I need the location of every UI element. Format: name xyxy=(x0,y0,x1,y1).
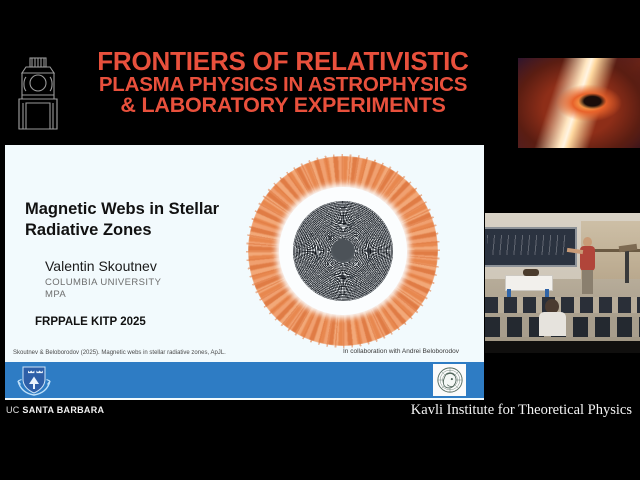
table-object xyxy=(523,269,539,276)
ucsb-name: SANTA BARBARA xyxy=(22,405,104,415)
conference-title: FRONTIERS OF RELATIVISTIC PLASMA PHYSICS… xyxy=(88,48,478,117)
podium-stand xyxy=(625,249,629,283)
slide-sponsor-bar xyxy=(5,362,484,398)
stellar-core-center xyxy=(331,239,355,263)
audience-member-body xyxy=(539,312,566,336)
presentation-screen: FRONTIERS OF RELATIVISTIC PLASMA PHYSICS… xyxy=(0,0,640,480)
slide-venue: FRPPALE KITP 2025 xyxy=(35,316,146,328)
conference-title-line2: PLASMA PHYSICS IN ASTROPHYSICS xyxy=(88,75,478,96)
black-hole-jet-image xyxy=(518,58,640,148)
columbia-university-logo xyxy=(13,364,63,396)
conference-title-line3: & LABORATORY EXPERIMENTS xyxy=(88,95,478,117)
webcam-bottom-shadow xyxy=(485,341,640,353)
slide-author: Valentin Skoutnev xyxy=(45,258,157,274)
ucsb-prefix: UC xyxy=(6,405,20,415)
max-planck-society-logo xyxy=(433,364,466,396)
conference-header: FRONTIERS OF RELATIVISTIC PLASMA PHYSICS… xyxy=(0,40,485,145)
speaker-legs xyxy=(582,270,593,294)
chair-row-back xyxy=(485,297,640,313)
page-footer: UC SANTA BARBARA Kavli Institute for The… xyxy=(0,400,640,480)
slide-citation: Skoutnev & Beloborodov (2025). Magnetic … xyxy=(13,350,226,356)
chalkboard-chalk-marks xyxy=(487,235,567,255)
stellar-interior-diagram xyxy=(243,151,453,351)
slide-affiliation-secondary: MPA xyxy=(45,289,66,300)
ucsb-wordmark: UC SANTA BARBARA xyxy=(6,405,104,415)
minerva-emblem-icon xyxy=(436,366,464,394)
speaker-webcam-panel[interactable] xyxy=(485,213,640,353)
kitp-institute-name: Kavli Institute for Theoretical Physics xyxy=(411,402,632,419)
conference-title-line1: FRONTIERS OF RELATIVISTIC xyxy=(88,48,478,75)
slide-affiliation-primary: COLUMBIA UNIVERSITY xyxy=(45,277,161,288)
kitp-building-icon xyxy=(8,53,68,133)
presentation-slide: Magnetic Webs in Stellar Radiative Zones… xyxy=(5,145,484,400)
astrophysics-visualization-panel[interactable] xyxy=(485,48,640,158)
